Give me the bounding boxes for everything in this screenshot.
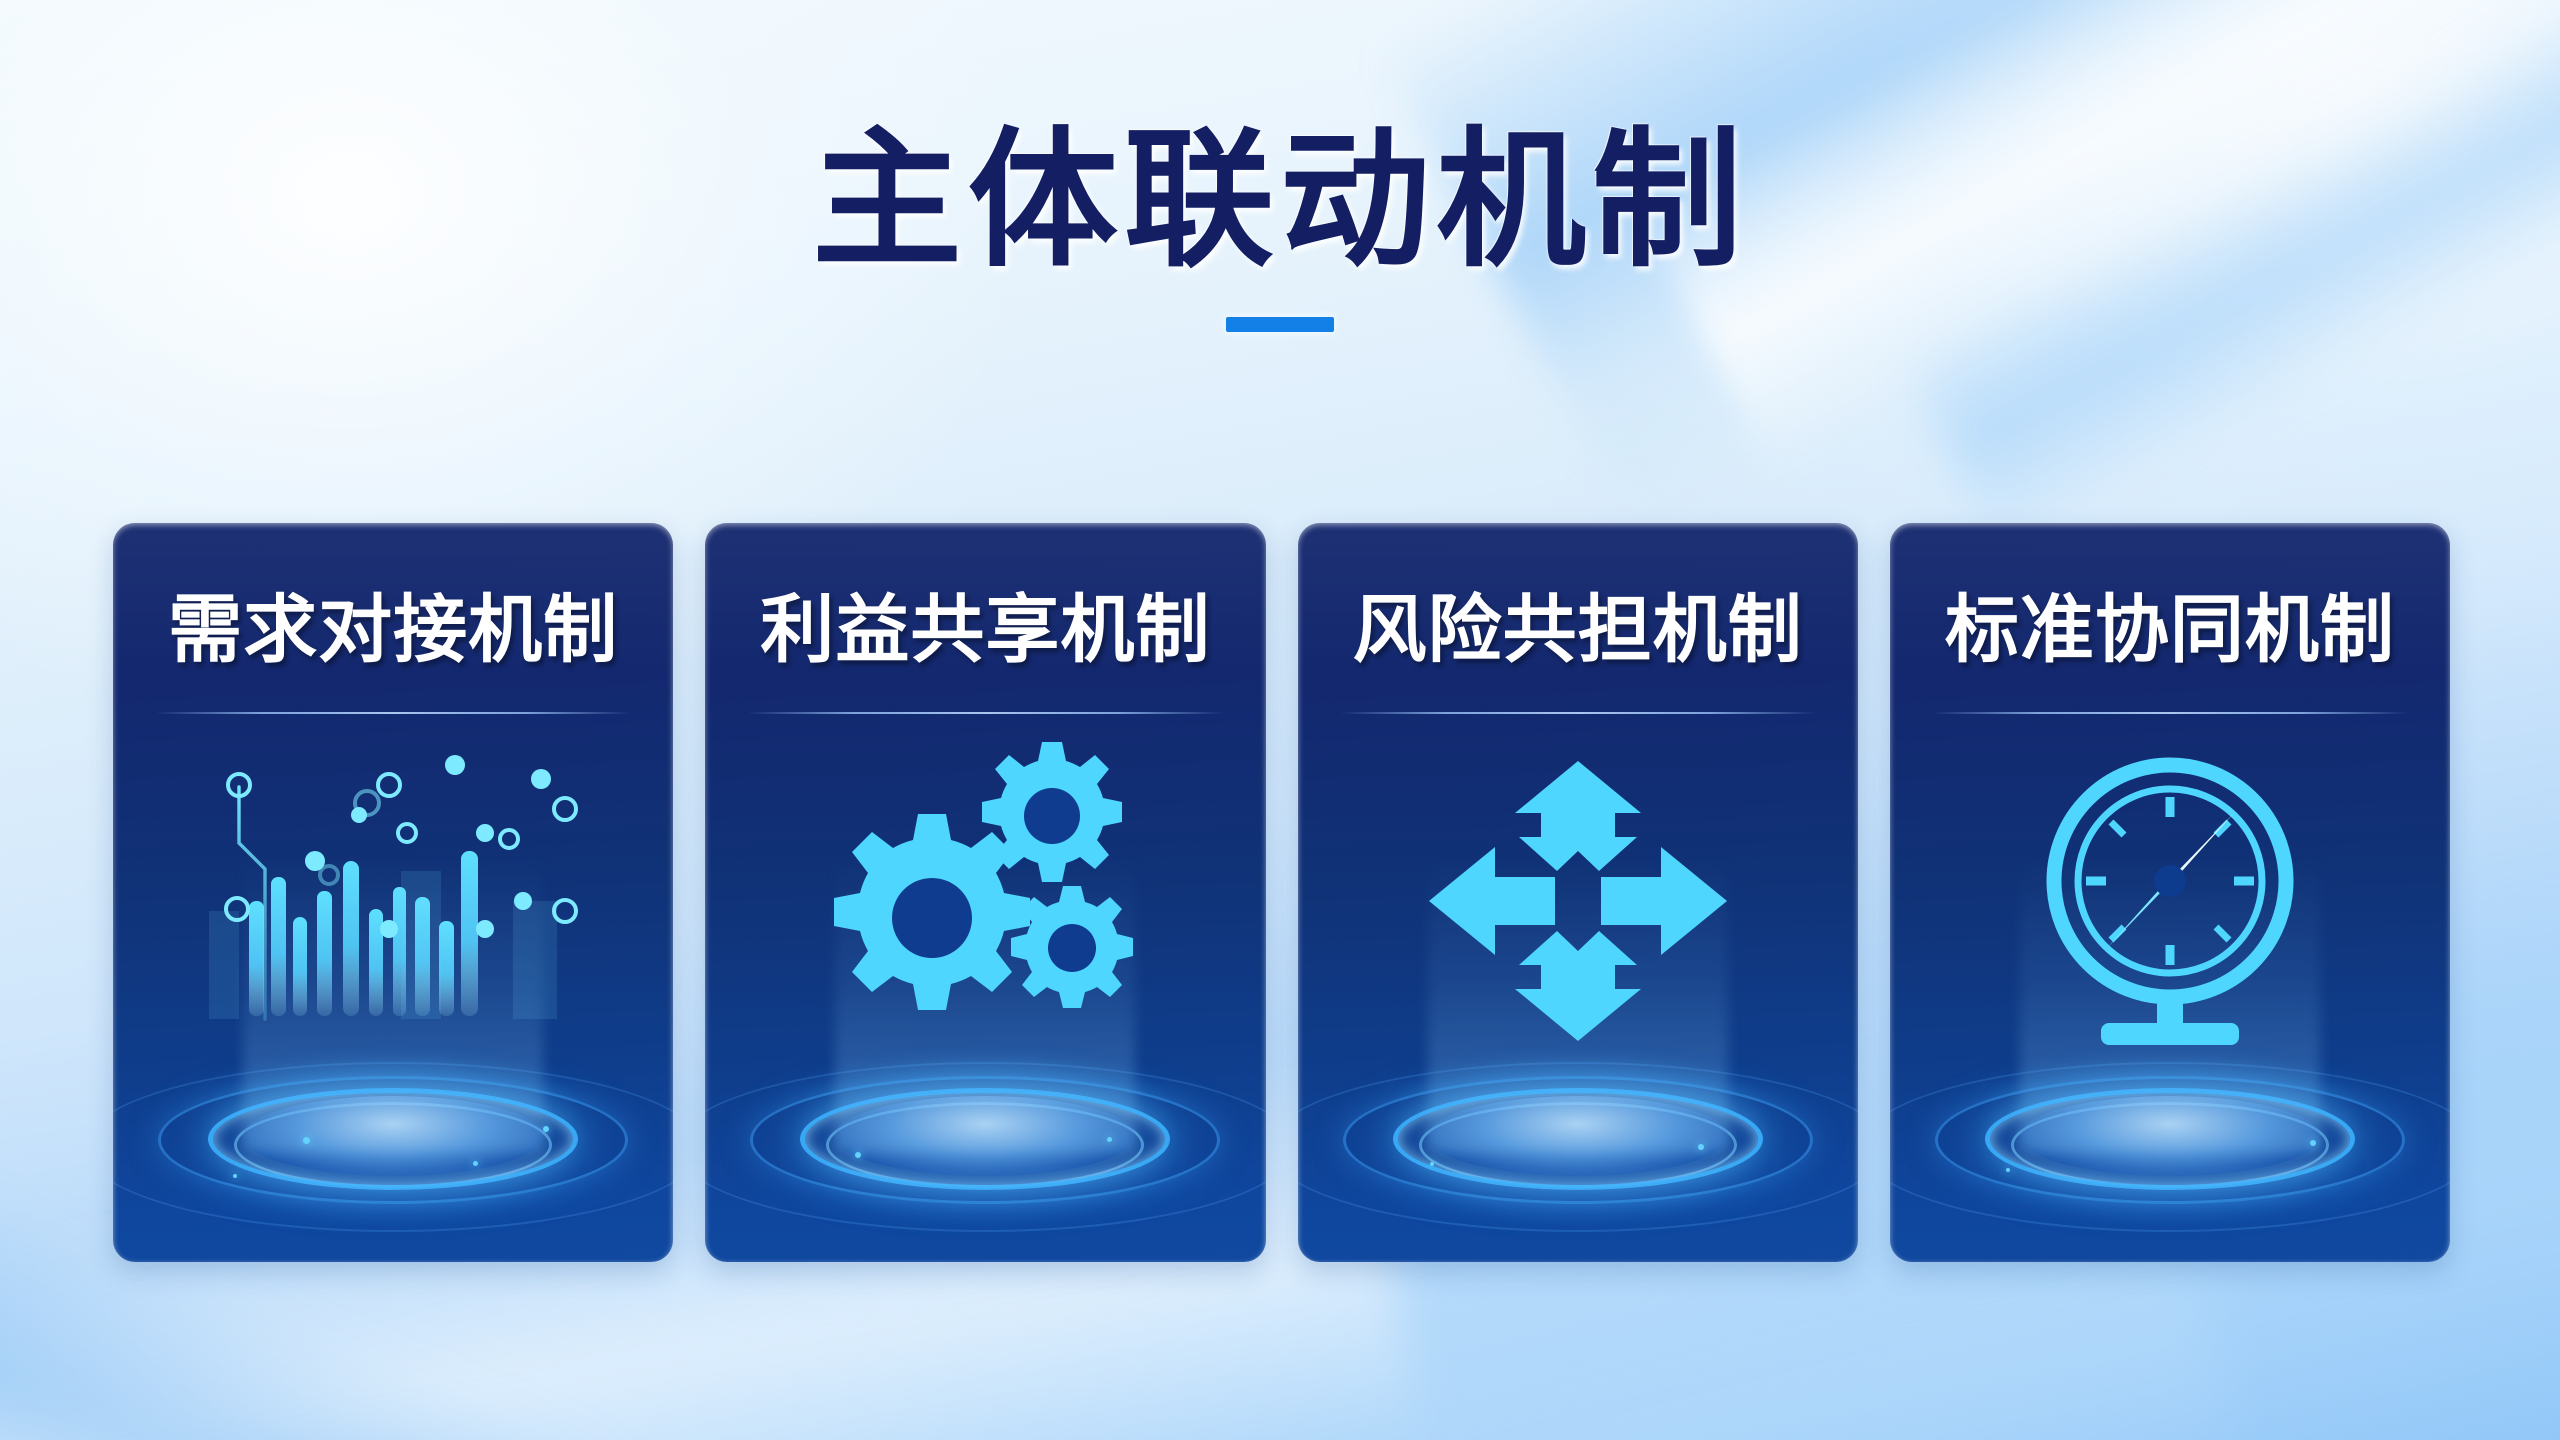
- card-title: 利益共享机制: [705, 570, 1265, 677]
- card-title: 标准协同机制: [1890, 570, 2450, 677]
- mechanism-card-4[interactable]: 标准协同机制: [1890, 523, 2450, 1262]
- card-divider: [747, 712, 1223, 714]
- mechanism-card-row: 需求对接机制: [113, 523, 2450, 1262]
- card-title: 风险共担机制: [1298, 570, 1858, 677]
- compass-gauge-icon: [2025, 751, 2315, 1051]
- mechanism-card-2[interactable]: 利益共享机制: [705, 523, 1265, 1262]
- page-title: 主体联动机制: [0, 112, 2560, 289]
- card-divider: [1932, 712, 2408, 714]
- data-network-bars-icon: [193, 751, 593, 1051]
- header: 主体联动机制: [0, 0, 2560, 332]
- card-divider: [1340, 712, 1816, 714]
- card-icon-wrap: [1298, 751, 1858, 1051]
- card-icon-wrap: [1890, 751, 2450, 1051]
- three-gears-icon: [820, 756, 1150, 1046]
- card-icon-wrap: [705, 751, 1265, 1051]
- mechanism-card-1[interactable]: 需求对接机制: [113, 523, 673, 1262]
- card-title: 需求对接机制: [113, 570, 673, 677]
- card-icon-wrap: [113, 751, 673, 1051]
- four-way-arrows-icon: [1423, 751, 1733, 1051]
- mechanism-card-3[interactable]: 风险共担机制: [1298, 523, 1858, 1262]
- card-divider: [155, 712, 631, 714]
- title-accent-bar: [1226, 317, 1334, 332]
